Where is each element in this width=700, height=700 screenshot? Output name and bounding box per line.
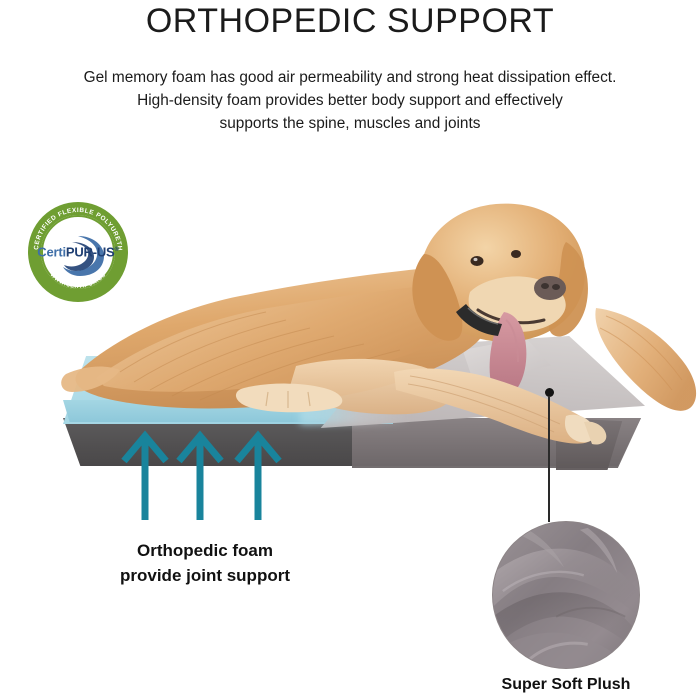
badge-brand-part2: PUR-US (66, 244, 115, 259)
page-title: ORTHOPEDIC SUPPORT (0, 2, 700, 40)
super-soft-plush-caption: Super Soft Plush (446, 676, 686, 694)
description-line-3: supports the spine, muscles and joints (14, 112, 686, 135)
orthopedic-foam-caption-line2: provide joint support (40, 563, 370, 588)
description-line-1: Gel memory foam has good air permeabilit… (14, 66, 686, 89)
description-block: Gel memory foam has good air permeabilit… (14, 66, 686, 135)
callout-leader-line (548, 396, 550, 522)
certipur-us-badge: CONTAINS CERTIFIED FLEXIBLE POLYURETHANE… (28, 202, 128, 302)
badge-brand-part1: Certi (37, 244, 66, 259)
badge-brand-text: CertiPUR-US® (28, 243, 128, 259)
infographic-canvas: ORTHOPEDIC SUPPORT Gel memory foam has g… (0, 0, 700, 700)
plush-fabric-swatch (492, 521, 640, 669)
description-line-2: High-density foam provides better body s… (14, 89, 686, 112)
plush-fabric-texture (493, 522, 639, 668)
orthopedic-foam-caption-line1: Orthopedic foam (40, 538, 370, 563)
support-arrows (110, 425, 310, 525)
registered-mark-icon: ® (115, 247, 119, 253)
orthopedic-foam-caption: Orthopedic foam provide joint support (40, 538, 370, 588)
